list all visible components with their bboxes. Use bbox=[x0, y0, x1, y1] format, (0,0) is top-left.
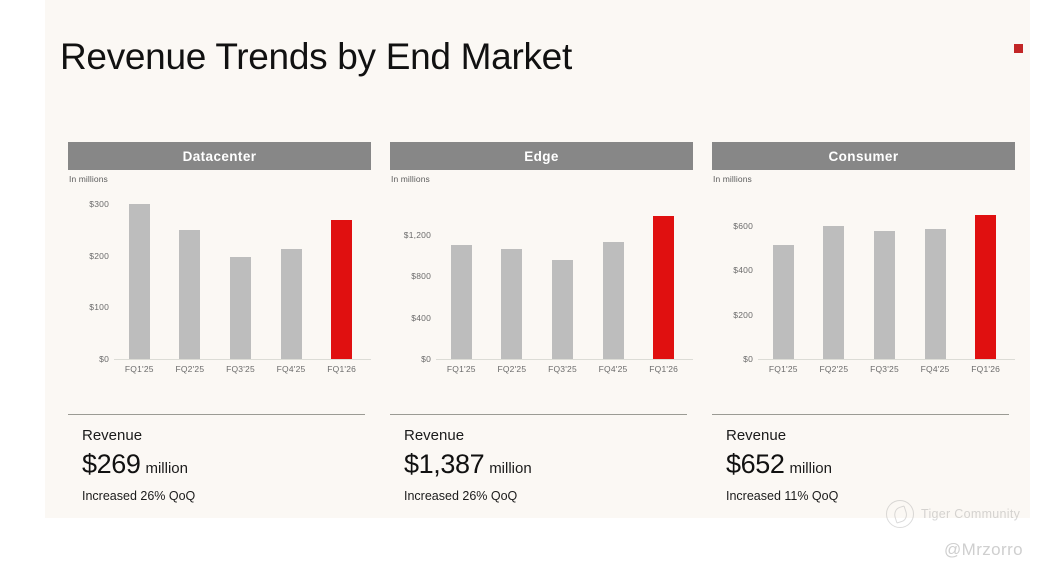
x-axis-tick-label: FQ2'25 bbox=[487, 364, 536, 374]
summary-unit: million bbox=[789, 460, 832, 477]
chart-consumer: $0$200$400$600 FQ1'25FQ2'25FQ3'25FQ4'25F… bbox=[712, 204, 1015, 384]
bar-FQ425 bbox=[925, 229, 946, 359]
panel-edge: Edge In millions $0$400$800$1,200 FQ1'25… bbox=[390, 142, 693, 502]
bar-slot bbox=[266, 204, 315, 359]
bar-slot bbox=[910, 204, 959, 359]
y-axis-tick: $200 bbox=[89, 251, 109, 261]
summary-label: Revenue bbox=[726, 426, 1011, 446]
bar-slot bbox=[487, 204, 536, 359]
bar-slot bbox=[860, 204, 909, 359]
x-axis-tick-label: FQ3'25 bbox=[216, 364, 265, 374]
panel-datacenter: Datacenter In millions $0$100$200$300 FQ… bbox=[68, 142, 371, 502]
y-axis-consumer: $0$200$400$600 bbox=[712, 204, 758, 384]
y-axis-tick: $400 bbox=[733, 265, 753, 275]
chart-edge: $0$400$800$1,200 FQ1'25FQ2'25FQ3'25FQ4'2… bbox=[390, 204, 693, 384]
summary-amount: $1,387 bbox=[404, 449, 484, 479]
y-axis-datacenter: $0$100$200$300 bbox=[68, 204, 114, 384]
summary-amount: $652 bbox=[726, 449, 784, 479]
panel-consumer: Consumer In millions $0$200$400$600 FQ1'… bbox=[712, 142, 1015, 502]
panel-header-consumer: Consumer bbox=[712, 142, 1015, 170]
x-axis-line-datacenter bbox=[114, 359, 371, 360]
bar-slot bbox=[759, 204, 808, 359]
panel-divider-edge bbox=[390, 414, 687, 415]
summary-value-row: $652million bbox=[726, 449, 1011, 484]
y-axis-edge: $0$400$800$1,200 bbox=[390, 204, 436, 384]
bar-slot bbox=[115, 204, 164, 359]
bar-FQ425 bbox=[603, 242, 624, 359]
bars-consumer bbox=[758, 204, 1011, 359]
x-axis-tick-label: FQ3'25 bbox=[538, 364, 587, 374]
summary-amount: $269 bbox=[82, 449, 140, 479]
bar-FQ425 bbox=[281, 249, 302, 359]
y-axis-tick: $1,200 bbox=[404, 230, 431, 240]
summary-value-row: $1,387million bbox=[404, 449, 689, 484]
bar-FQ126 bbox=[331, 220, 352, 359]
y-axis-tick: $600 bbox=[733, 221, 753, 231]
bar-FQ125 bbox=[451, 245, 472, 359]
bar-slot bbox=[216, 204, 265, 359]
red-square-marker-icon bbox=[1014, 44, 1023, 53]
summary-consumer: Revenue $652million Increased 11% QoQ bbox=[726, 426, 1011, 505]
x-axis-tick-label: FQ4'25 bbox=[588, 364, 637, 374]
x-axis-tick-label: FQ1'25 bbox=[115, 364, 164, 374]
bar-slot bbox=[437, 204, 486, 359]
panel-units-datacenter: In millions bbox=[69, 174, 108, 184]
summary-edge: Revenue $1,387million Increased 26% QoQ bbox=[404, 426, 689, 505]
bar-FQ325 bbox=[230, 257, 251, 359]
x-axis-tick-label: FQ1'26 bbox=[639, 364, 688, 374]
x-axis-tick-label: FQ4'25 bbox=[266, 364, 315, 374]
y-axis-tick: $0 bbox=[421, 354, 431, 364]
chart-datacenter: $0$100$200$300 FQ1'25FQ2'25FQ3'25FQ4'25F… bbox=[68, 204, 371, 384]
bar-FQ125 bbox=[773, 245, 794, 359]
summary-unit: million bbox=[489, 460, 532, 477]
y-axis-tick: $300 bbox=[89, 199, 109, 209]
bar-slot bbox=[165, 204, 214, 359]
bars-edge bbox=[436, 204, 689, 359]
y-axis-tick: $400 bbox=[411, 313, 431, 323]
bar-FQ126 bbox=[975, 215, 996, 359]
bar-slot bbox=[317, 204, 366, 359]
bar-FQ225 bbox=[823, 226, 844, 359]
panel-units-edge: In millions bbox=[391, 174, 430, 184]
summary-label: Revenue bbox=[404, 426, 689, 446]
slide-canvas: Revenue Trends by End Market Datacenter … bbox=[45, 0, 1030, 518]
x-axis-line-consumer bbox=[758, 359, 1015, 360]
x-axis-tick-label: FQ1'26 bbox=[317, 364, 366, 374]
bar-slot bbox=[961, 204, 1010, 359]
x-labels-consumer: FQ1'25FQ2'25FQ3'25FQ4'25FQ1'26 bbox=[758, 364, 1011, 374]
bar-slot bbox=[588, 204, 637, 359]
x-labels-datacenter: FQ1'25FQ2'25FQ3'25FQ4'25FQ1'26 bbox=[114, 364, 367, 374]
bar-FQ225 bbox=[501, 249, 522, 359]
summary-note: Increased 26% QoQ bbox=[404, 488, 689, 505]
panel-header-datacenter: Datacenter bbox=[68, 142, 371, 170]
y-axis-tick: $0 bbox=[99, 354, 109, 364]
bar-FQ325 bbox=[874, 231, 895, 359]
x-axis-tick-label: FQ2'25 bbox=[809, 364, 858, 374]
x-axis-tick-label: FQ2'25 bbox=[165, 364, 214, 374]
x-axis-tick-label: FQ4'25 bbox=[910, 364, 959, 374]
x-axis-tick-label: FQ1'25 bbox=[437, 364, 486, 374]
x-axis-tick-label: FQ1'26 bbox=[961, 364, 1010, 374]
bars-datacenter bbox=[114, 204, 367, 359]
panels-row: Datacenter In millions $0$100$200$300 FQ… bbox=[45, 142, 1030, 502]
x-labels-edge: FQ1'25FQ2'25FQ3'25FQ4'25FQ1'26 bbox=[436, 364, 689, 374]
panel-units-consumer: In millions bbox=[713, 174, 752, 184]
x-axis-tick-label: FQ3'25 bbox=[860, 364, 909, 374]
bar-slot bbox=[809, 204, 858, 359]
bar-slot bbox=[538, 204, 587, 359]
y-axis-tick: $0 bbox=[743, 354, 753, 364]
bar-FQ225 bbox=[179, 230, 200, 359]
summary-note: Increased 26% QoQ bbox=[82, 488, 367, 505]
bar-FQ126 bbox=[653, 216, 674, 359]
bar-FQ125 bbox=[129, 204, 150, 359]
panel-divider-consumer bbox=[712, 414, 1009, 415]
panel-divider-datacenter bbox=[68, 414, 365, 415]
watermark-handle: @Mrzorro bbox=[944, 540, 1023, 560]
bar-slot bbox=[639, 204, 688, 359]
page-title: Revenue Trends by End Market bbox=[60, 36, 572, 78]
y-axis-tick: $800 bbox=[411, 271, 431, 281]
y-axis-tick: $100 bbox=[89, 302, 109, 312]
summary-unit: million bbox=[145, 460, 188, 477]
summary-label: Revenue bbox=[82, 426, 367, 446]
summary-note: Increased 11% QoQ bbox=[726, 488, 1011, 505]
summary-value-row: $269million bbox=[82, 449, 367, 484]
summary-datacenter: Revenue $269million Increased 26% QoQ bbox=[82, 426, 367, 505]
x-axis-tick-label: FQ1'25 bbox=[759, 364, 808, 374]
x-axis-line-edge bbox=[436, 359, 693, 360]
y-axis-tick: $200 bbox=[733, 310, 753, 320]
bar-FQ325 bbox=[552, 260, 573, 359]
panel-header-edge: Edge bbox=[390, 142, 693, 170]
